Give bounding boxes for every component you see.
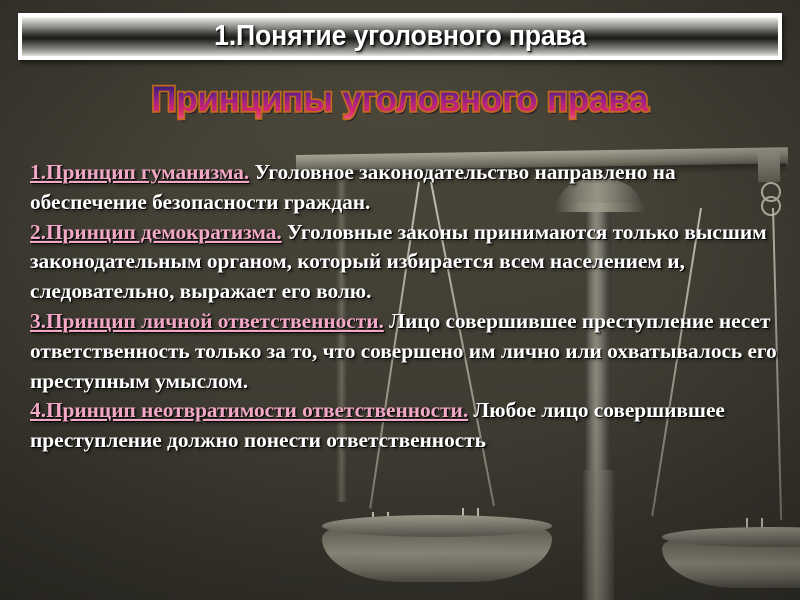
principle-lede-2: 2.Принцип демократизма. [30,220,282,244]
principle-lede-1: 1.Принцип гуманизма. [30,160,249,184]
subtitle-fill-layer: Принципы уголовного права [152,80,649,119]
principle-item-3: 3.Принцип личной ответственности. Лицо с… [30,309,777,393]
principle-lede-4: 4.Принцип неотвратимости ответственности… [30,398,468,422]
principle-item-2: 2.Принцип демократизма. Уголовные законы… [30,220,767,304]
slide-subtitle-wordart: Принципы уголовного права Принципы уголо… [0,82,800,119]
principles-paragraph: 1.Принцип гуманизма. Уголовное законодат… [30,158,778,456]
slide-title-banner: 1.Понятие уголовного права [18,13,782,60]
principle-item-1: 1.Принцип гуманизма. Уголовное законодат… [30,160,676,214]
slide-canvas: 1.Понятие уголовного права Принципы угол… [0,0,800,600]
principle-lede-3: 3.Принцип личной ответственности. [30,309,384,333]
principles-text-block: 1.Принцип гуманизма. Уголовное законодат… [30,158,778,456]
page-title: 1.Понятие уголовного права [214,22,586,51]
principle-item-4: 4.Принцип неотвратимости ответственности… [30,398,725,452]
